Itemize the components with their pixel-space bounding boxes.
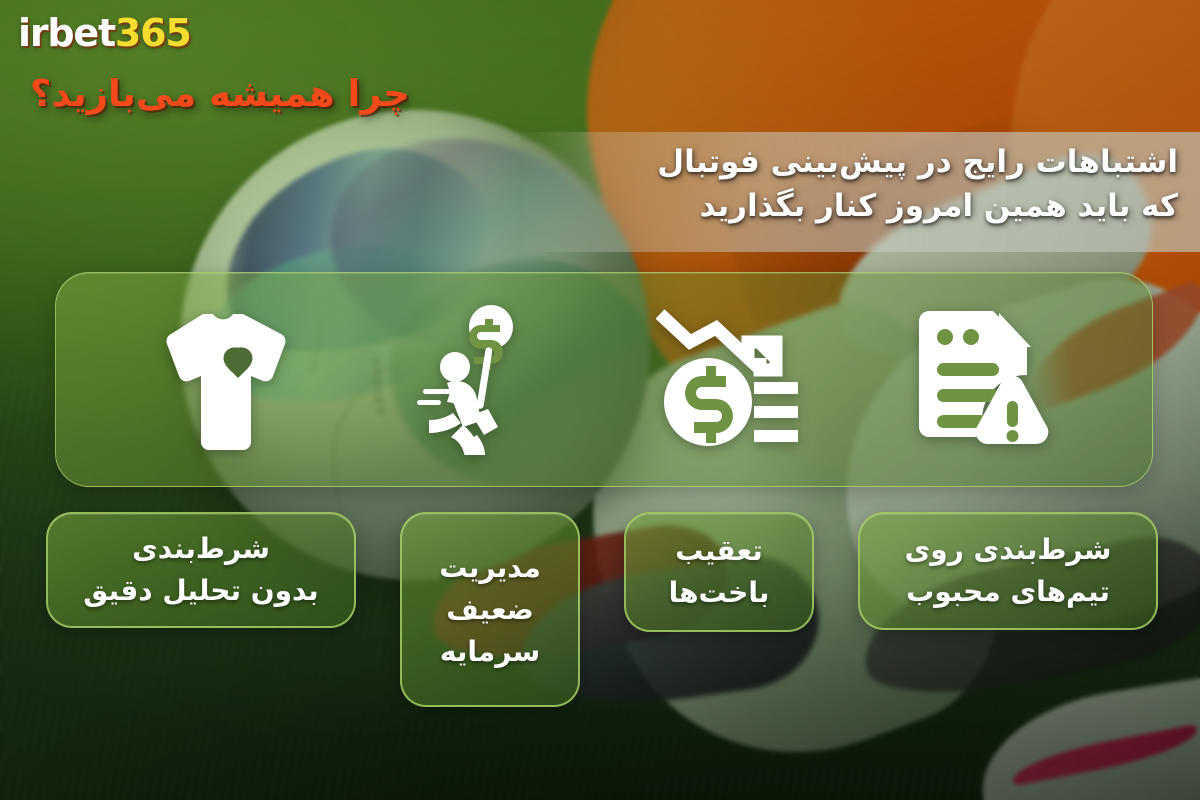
icon-panel xyxy=(55,272,1153,487)
icon-cell-document-warning[interactable] xyxy=(885,295,1085,465)
icon-cell-jersey-heart[interactable] xyxy=(123,295,323,465)
list-item-poor-bankroll[interactable]: مدیریت ضعیف سرمایه xyxy=(400,512,580,707)
subtitle: اشتباهات رایج در پیش‌بینی فوتبالکه باید … xyxy=(478,140,1178,228)
foreground-content: irbet365 چرا همیشه می‌بازید؟ اشتباهات را… xyxy=(0,0,1200,800)
list-item-no-analysis[interactable]: شرط‌بندی بدون تحلیل دقیق xyxy=(46,512,356,628)
card-line: تیم‌های محبوب xyxy=(905,571,1112,613)
icon-cell-running-person[interactable] xyxy=(377,295,577,465)
card-line: شرط‌بندی روی xyxy=(905,529,1112,571)
list-item-chasing-losses[interactable]: تعقیب باخت‌ها xyxy=(624,512,814,632)
icon-cell-money-down[interactable] xyxy=(631,295,831,465)
card-line: ضعیف xyxy=(439,589,541,631)
brand-logo[interactable]: irbet365 xyxy=(18,14,191,52)
brand-logo-suffix: 365 xyxy=(115,11,191,55)
card-line: باخت‌ها xyxy=(669,572,770,614)
card-line: بدون تحلیل دقیق xyxy=(83,570,318,612)
label-cards-row: شرط‌بندی روی تیم‌های محبوب تعقیب باخت‌ها… xyxy=(46,512,1158,707)
card-line: شرط‌بندی xyxy=(83,528,318,570)
brand-logo-primary: irbet xyxy=(18,11,115,55)
card-line: تعقیب xyxy=(669,530,770,572)
infographic-poster: adidas Speedcell irbet365 چرا همیشه می‌ب… xyxy=(0,0,1200,800)
jersey-heart-icon xyxy=(147,310,299,450)
subtitle-line-1: اشتباهات رایج در پیش‌بینی فوتبال xyxy=(657,144,1178,180)
list-item-favourite-teams[interactable]: شرط‌بندی روی تیم‌های محبوب xyxy=(858,512,1158,630)
page-title: چرا همیشه می‌بازید؟ xyxy=(30,72,500,116)
subtitle-line-2: که باید همین امروز کنار بگذارید xyxy=(478,184,1178,228)
running-person-money-icon xyxy=(417,305,537,455)
money-down-chart-icon xyxy=(656,306,806,454)
card-line: سرمایه xyxy=(439,631,541,673)
card-line: مدیریت xyxy=(439,547,541,589)
document-warning-icon xyxy=(919,305,1051,455)
